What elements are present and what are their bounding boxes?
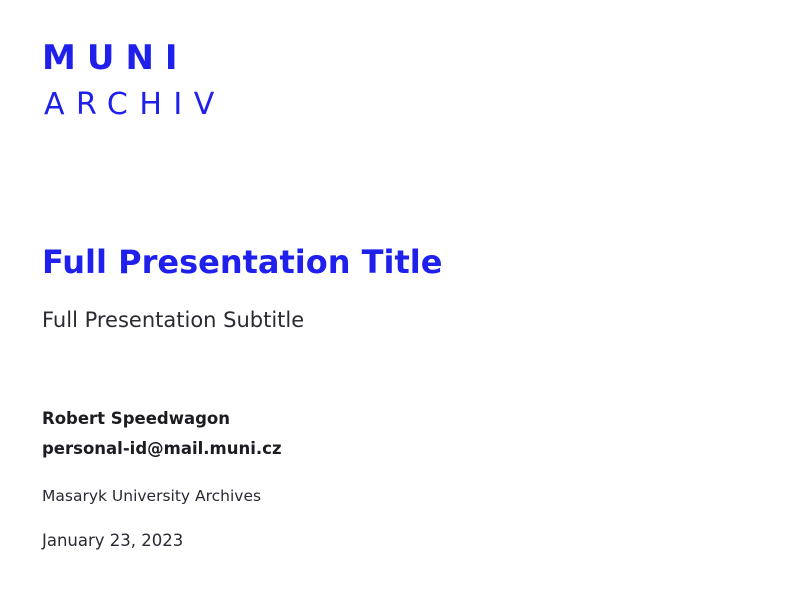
logo-text-archiv: ARCHIV — [44, 86, 226, 124]
author-email: personal-id@mail.muni.cz — [42, 436, 282, 461]
presentation-title-slide: MUNI ARCHIV Full Presentation Title Full… — [0, 0, 794, 596]
page-title: Full Presentation Title — [42, 243, 442, 281]
page-subtitle: Full Presentation Subtitle — [42, 306, 304, 334]
author-affiliation: Masaryk University Archives — [42, 485, 261, 507]
muni-archiv-logo: MUNI ARCHIV — [42, 38, 226, 124]
logo-text-muni: MUNI — [42, 38, 226, 78]
presentation-date: January 23, 2023 — [42, 529, 183, 553]
author-name: Robert Speedwagon — [42, 406, 230, 431]
